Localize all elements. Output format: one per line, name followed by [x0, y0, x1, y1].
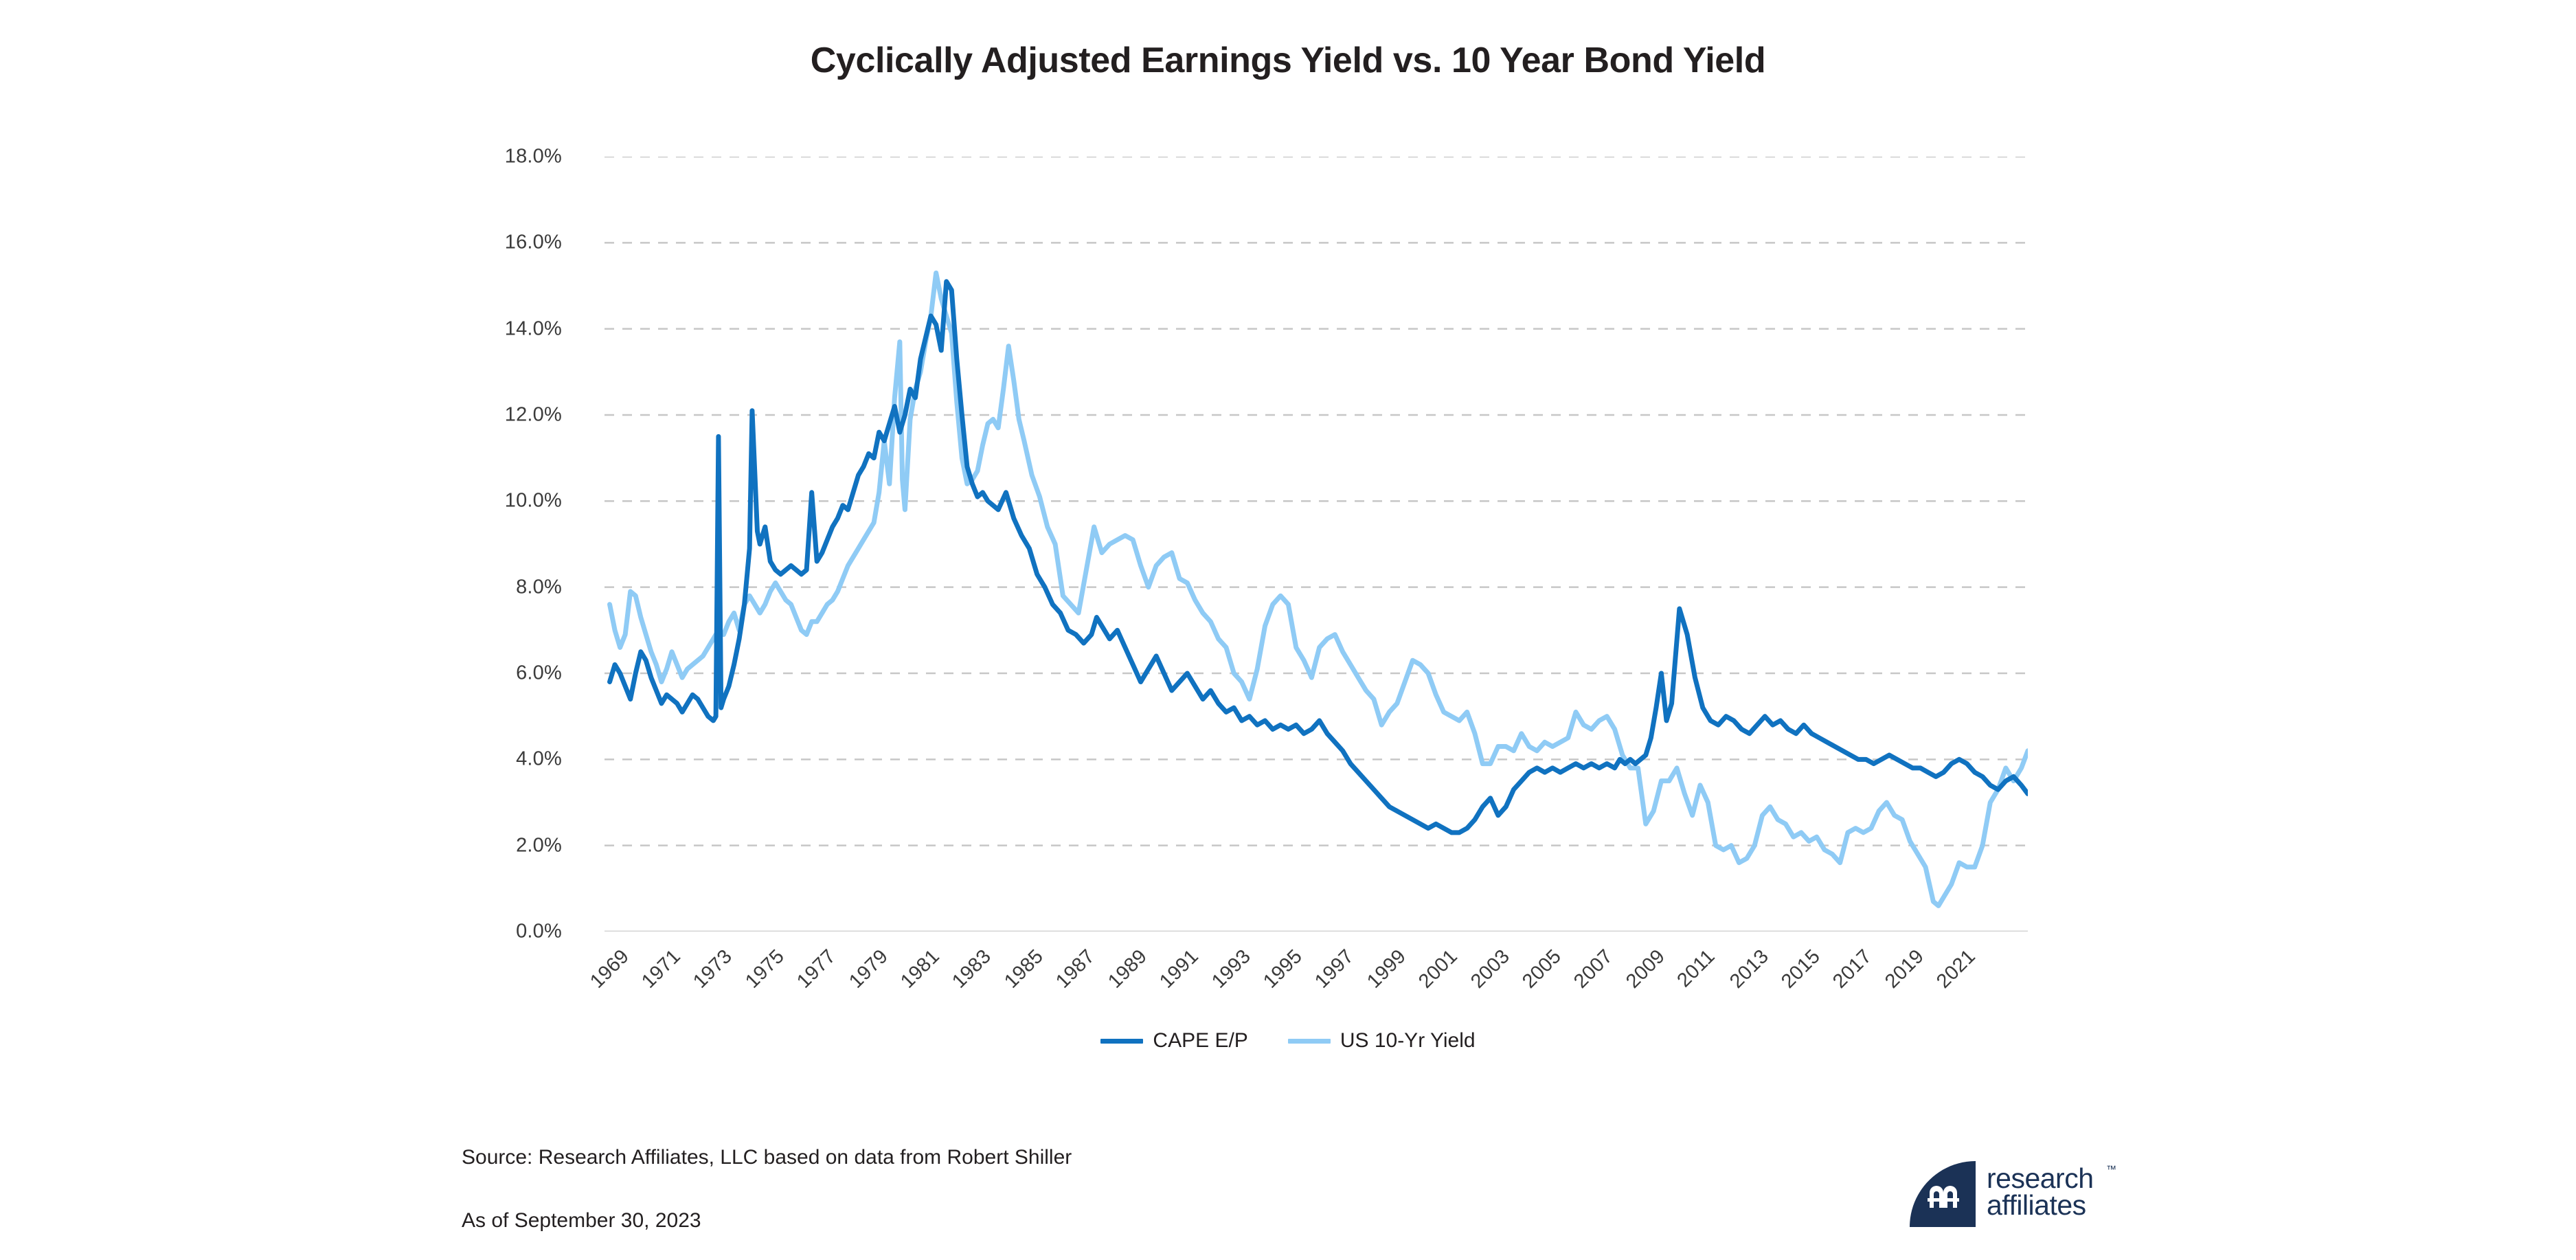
x-tick-label: 1991 [1155, 945, 1204, 993]
plot-area [605, 157, 2028, 932]
series-line-us-10-yr-yield [610, 273, 2028, 905]
legend-label: CAPE E/P [1153, 1029, 1247, 1053]
y-axis: 0.0%2.0%4.0%6.0%8.0%10.0%12.0%14.0%16.0%… [440, 157, 584, 932]
logo-word-affiliates: affiliates [1987, 1192, 2094, 1219]
series-line-cape-e-p [610, 282, 2028, 833]
x-tick-label: 1977 [793, 945, 841, 993]
x-tick-label: 2017 [1829, 945, 1877, 993]
chart-legend: CAPE E/PUS 10-Yr Yield [0, 1029, 2576, 1053]
y-tick-label: 6.0% [516, 662, 562, 685]
x-tick-label: 1995 [1259, 945, 1307, 993]
y-tick-label: 0.0% [516, 921, 562, 943]
legend-swatch-icon [1100, 1039, 1143, 1044]
x-tick-label: 2009 [1622, 945, 1670, 993]
x-tick-label: 1989 [1104, 945, 1152, 993]
x-tick-label: 1969 [586, 945, 634, 993]
research-affiliates-logo: research affiliates ™ [1910, 1161, 2129, 1230]
y-tick-label: 18.0% [505, 146, 562, 168]
x-tick-label: 2013 [1726, 945, 1774, 993]
x-tick-label: 1993 [1208, 945, 1256, 993]
logo-trademark: ™ [2106, 1164, 2116, 1175]
logo-mark-icon [1910, 1161, 1976, 1227]
x-tick-label: 1981 [896, 945, 945, 993]
logo-wordmark: research affiliates [1987, 1165, 2094, 1218]
x-tick-label: 1987 [1052, 945, 1100, 993]
y-tick-label: 10.0% [505, 490, 562, 513]
x-tick-label: 2015 [1777, 945, 1825, 993]
chart-card: Cyclically Adjusted Earnings Yield vs. 1… [0, 0, 2576, 1260]
logo-word-research: research [1987, 1165, 2094, 1192]
x-tick-label: 2001 [1414, 945, 1462, 993]
x-tick-label: 2007 [1570, 945, 1618, 993]
x-axis: 1969197119731975197719791981198319851987… [605, 936, 2028, 1032]
y-tick-label: 14.0% [505, 317, 562, 340]
as-of-note: As of September 30, 2023 [462, 1209, 701, 1233]
x-tick-label: 1971 [637, 945, 686, 993]
x-tick-label: 1979 [845, 945, 893, 993]
x-tick-label: 1985 [1000, 945, 1048, 993]
y-tick-label: 8.0% [516, 576, 562, 598]
x-tick-label: 2019 [1881, 945, 1929, 993]
legend-label: US 10-Yr Yield [1340, 1029, 1476, 1053]
y-tick-label: 2.0% [516, 834, 562, 857]
series-layer [610, 273, 2028, 905]
x-tick-label: 1999 [1363, 945, 1411, 993]
page-title: Cyclically Adjusted Earnings Yield vs. 1… [0, 40, 2576, 81]
x-tick-label: 1975 [741, 945, 789, 993]
x-tick-label: 2011 [1673, 945, 1720, 992]
y-tick-label: 12.0% [505, 404, 562, 427]
chart-svg [605, 157, 2028, 932]
source-note: Source: Research Affiliates, LLC based o… [462, 1146, 1072, 1169]
y-tick-label: 16.0% [505, 232, 562, 254]
y-tick-label: 4.0% [516, 748, 562, 771]
x-tick-label: 2021 [1932, 945, 1980, 993]
x-tick-label: 1997 [1311, 945, 1359, 993]
x-tick-label: 1973 [689, 945, 737, 993]
x-tick-label: 2005 [1518, 945, 1566, 993]
legend-item[interactable]: CAPE E/P [1100, 1029, 1247, 1053]
legend-item[interactable]: US 10-Yr Yield [1288, 1029, 1476, 1053]
x-tick-label: 2003 [1467, 945, 1515, 993]
legend-swatch-icon [1288, 1039, 1331, 1044]
x-tick-label: 1983 [949, 945, 997, 993]
